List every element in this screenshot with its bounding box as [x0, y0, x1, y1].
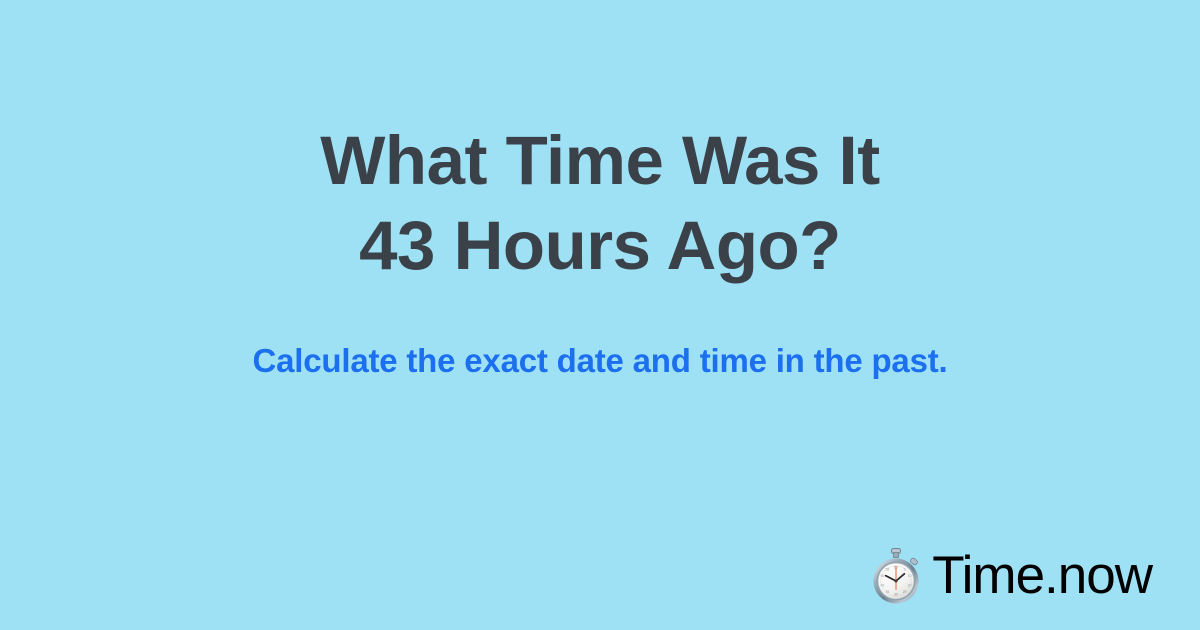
page-title: What Time Was It 43 Hours Ago?: [150, 118, 1050, 288]
brand-name: Time.now: [932, 548, 1152, 604]
page-subtitle: Calculate the exact date and time in the…: [100, 341, 1100, 381]
svg-text:35: 35: [886, 590, 890, 594]
brand-logo[interactable]: 60 5 10 20 25 30 35 40 50 55 Time.now: [870, 548, 1152, 604]
hero-section: What Time Was It 43 Hours Ago? Calculate…: [0, 118, 1200, 381]
og-card: What Time Was It 43 Hours Ago? Calculate…: [0, 0, 1200, 630]
stopwatch-icon: 60 5 10 20 25 30 35 40 50 55: [870, 548, 922, 604]
